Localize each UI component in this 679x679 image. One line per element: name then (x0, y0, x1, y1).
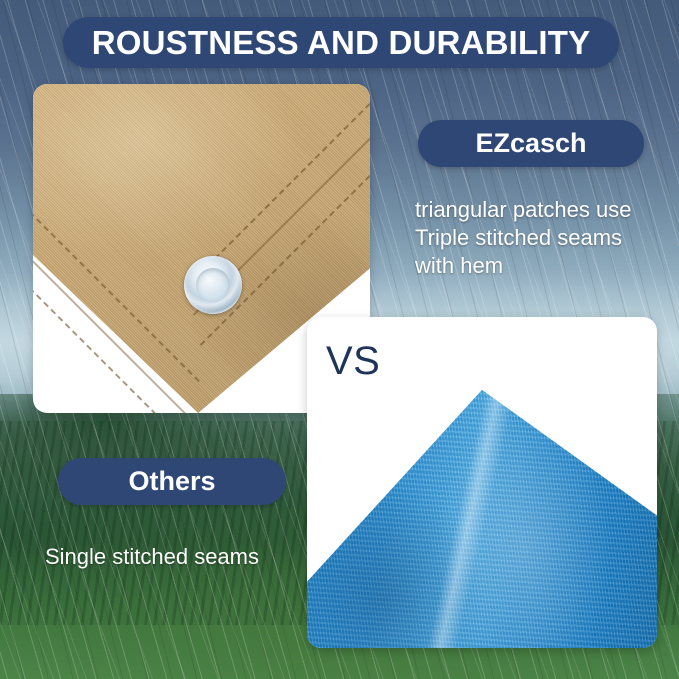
metal-grommet-icon (184, 256, 242, 314)
badge-ezcasch-label: EZcasch (475, 128, 586, 159)
badge-others: Others (58, 458, 286, 505)
title-banner: ROUSTNESS AND DURABILITY (63, 17, 619, 68)
page-title: ROUSTNESS AND DURABILITY (92, 24, 591, 62)
badge-others-label: Others (128, 466, 215, 497)
product-card-others: VS (307, 317, 657, 648)
description-ezcasch: triangular patches use Triple stitched s… (415, 196, 665, 280)
description-others: Single stitched seams (45, 543, 285, 571)
infographic-canvas: ROUSTNESS AND DURABILITY EZcasch triangu… (0, 0, 679, 679)
vs-label: VS (326, 339, 380, 384)
badge-ezcasch: EZcasch (418, 120, 644, 167)
